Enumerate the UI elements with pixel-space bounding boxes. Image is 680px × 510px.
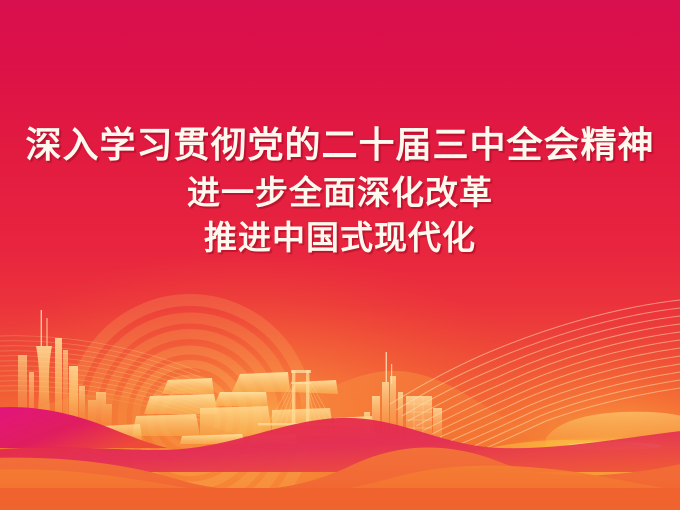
propaganda-banner: 深入学习贯彻党的二十届三中全会精神 进一步全面深化改革 推进中国式现代化 xyxy=(0,0,680,510)
waves-layer xyxy=(0,0,680,510)
magenta-accent-wedge xyxy=(0,407,168,448)
bottom-band xyxy=(0,488,680,510)
